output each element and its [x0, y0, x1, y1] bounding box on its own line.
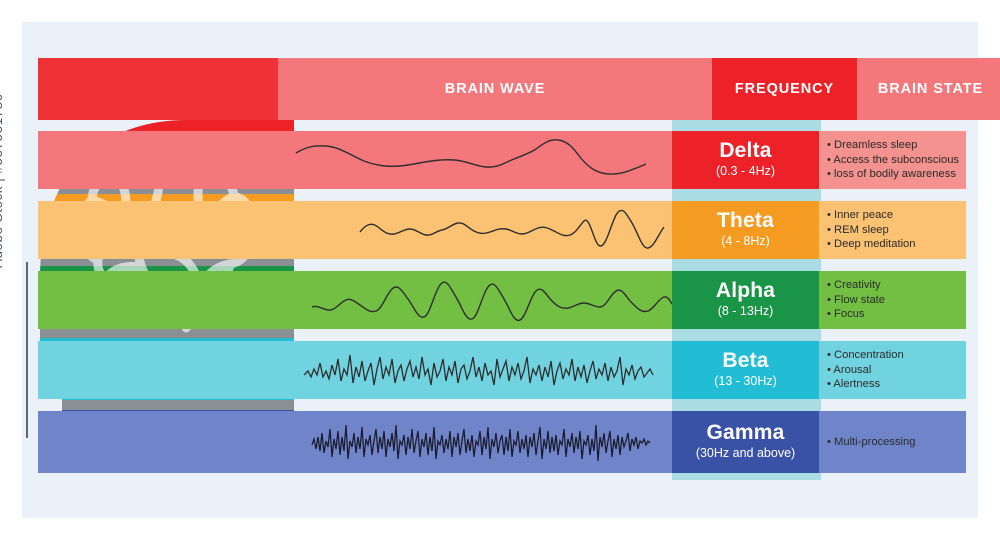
state-cell-beta: • Concentration • Arousal • Alertness [819, 341, 966, 399]
frequency-cell-gamma: Gamma (30Hz and above) [672, 411, 819, 473]
state-cell-alpha: • Creativity • Flow state • Focus [819, 271, 966, 329]
state-item: • loss of bodily awareness [827, 167, 966, 182]
state-item: • Alertness [827, 377, 966, 392]
frequency-range-gamma: (30Hz and above) [696, 445, 795, 462]
frequency-name-delta: Delta [719, 140, 771, 162]
wave-cell-beta [38, 341, 672, 399]
frequency-name-beta: Beta [722, 350, 768, 372]
frequency-range-beta: (13 - 30Hz) [714, 373, 777, 390]
state-item: • Inner peace [827, 208, 966, 223]
state-item: • Multi-processing [827, 435, 966, 450]
state-cell-gamma: • Multi-processing [819, 411, 966, 473]
wave-cell-gamma [38, 411, 672, 473]
frequency-cell-delta: Delta (0.3 - 4Hz) [672, 131, 819, 189]
header-col-brain-wave: BRAIN WAVE [278, 58, 712, 120]
wave-cell-theta [38, 201, 672, 259]
frequency-range-delta: (0.3 - 4Hz) [716, 163, 775, 180]
header-col-brain-state: BRAIN STATE [857, 58, 1000, 120]
frequency-name-gamma: Gamma [706, 422, 784, 444]
frequency-range-alpha: (8 - 13Hz) [718, 303, 774, 320]
infographic-canvas: Adobe Stock | #557581786 [0, 0, 1000, 540]
watermark-text: Adobe Stock | #557581786 [0, 8, 10, 268]
header-label-brain-state: BRAIN STATE [857, 58, 1000, 120]
state-item: • Flow state [827, 293, 966, 308]
frequency-cell-beta: Beta (13 - 30Hz) [672, 341, 819, 399]
wave-cell-delta [38, 131, 672, 189]
state-item: • Concentration [827, 348, 966, 363]
header-col-frequency: FREQUENCY [712, 58, 857, 120]
frequency-cell-alpha: Alpha (8 - 13Hz) [672, 271, 819, 329]
header-label-brain-wave: BRAIN WAVE [278, 58, 712, 120]
head-divider-4 [36, 400, 326, 410]
frequency-range-theta: (4 - 8Hz) [721, 233, 770, 250]
state-item: • Focus [827, 307, 966, 322]
frequency-name-alpha: Alpha [716, 280, 775, 302]
state-item: • Deep meditation [827, 237, 966, 252]
wave-bg-alpha [38, 271, 672, 329]
header-label-frequency: FREQUENCY [712, 58, 857, 120]
wave-bg-delta [38, 131, 672, 189]
state-item: • Arousal [827, 363, 966, 378]
state-item: • Creativity [827, 278, 966, 293]
state-cell-theta: • Inner peace • REM sleep • Deep meditat… [819, 201, 966, 259]
header-left-block [38, 58, 278, 120]
state-item: • REM sleep [827, 223, 966, 238]
state-item: • Dreamless sleep [827, 138, 966, 153]
watermark-divider [26, 262, 28, 438]
head-divider-3 [36, 328, 326, 338]
wave-cell-alpha [38, 271, 672, 329]
frequency-cell-theta: Theta (4 - 8Hz) [672, 201, 819, 259]
frequency-name-theta: Theta [717, 210, 774, 232]
state-item: • Access the subconscious [827, 153, 966, 168]
state-cell-delta: • Dreamless sleep • Access the subconsci… [819, 131, 966, 189]
